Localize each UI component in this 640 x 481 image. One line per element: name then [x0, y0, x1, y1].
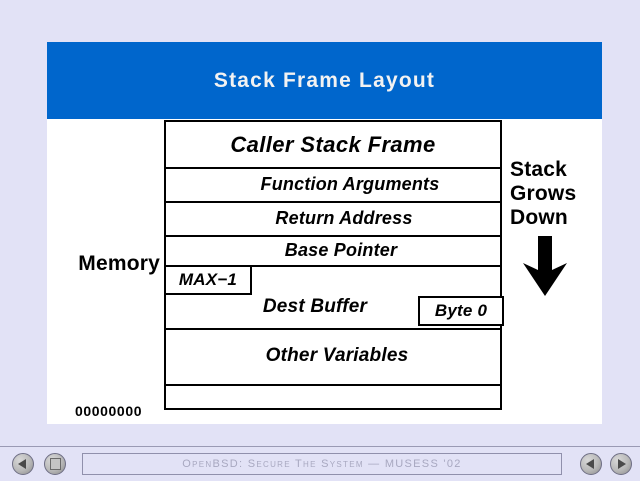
stack-growth-note: Stack Grows Down: [510, 158, 596, 303]
stack-row-caller-frame: Caller Stack Frame: [166, 122, 500, 167]
label-memory: Memory: [47, 252, 160, 276]
presentation-viewer: Stack Frame Layout Top Memory 00000000 C…: [0, 0, 640, 480]
triangle-left-icon: [586, 459, 594, 469]
previous-slide-button[interactable]: [12, 453, 34, 475]
back-button[interactable]: [580, 453, 602, 475]
buffer-marker-byte-zero: Byte 0: [418, 296, 504, 326]
stack-growth-line-3: Down: [510, 206, 596, 230]
label-bottom-address: 00000000: [75, 403, 142, 419]
row-divider: [166, 384, 500, 386]
forward-button[interactable]: [610, 453, 632, 475]
slide-title: Stack Frame Layout: [47, 42, 602, 119]
status-bar-text: OpenBSD: Secure The System — MUSESS '02: [182, 458, 461, 470]
stack-frame-diagram: Caller Stack Frame Function Arguments Re…: [164, 120, 502, 410]
stack-row-return-address: Return Address: [166, 201, 500, 235]
triangle-right-icon: [618, 459, 626, 469]
stack-row-function-arguments: Function Arguments: [166, 167, 500, 201]
stop-button[interactable]: [44, 453, 66, 475]
stack-growth-line-2: Grows: [510, 182, 596, 206]
triangle-left-icon: [18, 459, 26, 469]
arrow-down-icon: [520, 236, 596, 303]
stack-growth-line-1: Stack: [510, 158, 596, 182]
slide-canvas: Stack Frame Layout Top Memory 00000000 C…: [47, 42, 602, 424]
viewer-toolbar: OpenBSD: Secure The System — MUSESS '02: [0, 446, 640, 481]
status-bar[interactable]: OpenBSD: Secure The System — MUSESS '02: [82, 453, 562, 475]
square-icon: [50, 458, 61, 470]
stack-row-base-pointer: Base Pointer: [166, 235, 500, 265]
buffer-marker-max-minus-one: MAX−1: [164, 265, 252, 295]
stack-row-other-variables: Other Variables: [166, 328, 500, 384]
